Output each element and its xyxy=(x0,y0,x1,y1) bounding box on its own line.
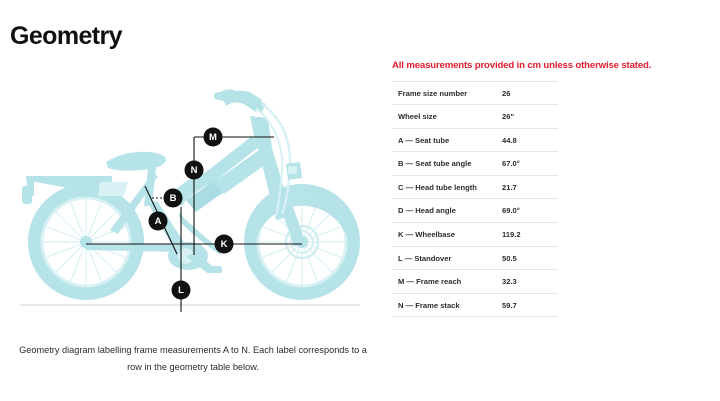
row-value: 26" xyxy=(502,105,558,129)
table-row: M — Frame reach32.3 xyxy=(392,270,558,294)
bike-silhouette xyxy=(22,90,360,301)
row-value: 32.3 xyxy=(502,270,558,294)
geometry-table: Frame size number26Wheel size26"A — Seat… xyxy=(392,81,558,318)
row-value: 26 xyxy=(502,81,558,105)
table-row: C — Head tube length21.7 xyxy=(392,175,558,199)
table-row: N — Frame stack59.7 xyxy=(392,293,558,317)
label-marker-b: B xyxy=(164,189,183,208)
bike-geometry-diagram: M N B A K L xyxy=(0,72,380,322)
row-label: C — Head tube length xyxy=(392,175,502,199)
row-value: 119.2 xyxy=(502,223,558,247)
caption-line-1: Geometry diagram labelling frame measure… xyxy=(19,345,296,355)
table-row: K — Wheelbase119.2 xyxy=(392,223,558,247)
row-label: L — Standover xyxy=(392,246,502,270)
table-row: D — Head angle69.0° xyxy=(392,199,558,223)
measurement-units-note: All measurements provided in cm unless o… xyxy=(392,60,712,72)
row-label: K — Wheelbase xyxy=(392,223,502,247)
label-marker-a: A xyxy=(149,212,168,231)
geometry-table-panel: All measurements provided in cm unless o… xyxy=(392,60,712,317)
row-value: 67.0° xyxy=(502,152,558,176)
row-value: 21.7 xyxy=(502,175,558,199)
svg-text:K: K xyxy=(221,239,228,250)
row-label: D — Head angle xyxy=(392,199,502,223)
row-label: Frame size number xyxy=(392,81,502,105)
diagram-caption: Geometry diagram labelling frame measure… xyxy=(18,342,368,376)
label-marker-n: N xyxy=(185,161,204,180)
table-row: Frame size number26 xyxy=(392,81,558,105)
row-label: N — Frame stack xyxy=(392,293,502,317)
table-row: Wheel size26" xyxy=(392,105,558,129)
table-row: L — Standover50.5 xyxy=(392,246,558,270)
svg-text:M: M xyxy=(209,132,217,143)
page-title: Geometry xyxy=(10,24,122,49)
table-row: A — Seat tube44.8 xyxy=(392,128,558,152)
row-label: M — Frame reach xyxy=(392,270,502,294)
geometry-page: Geometry xyxy=(0,0,720,401)
svg-text:L: L xyxy=(178,285,184,296)
row-label: B — Seat tube angle xyxy=(392,152,502,176)
row-value: 50.5 xyxy=(502,246,558,270)
label-marker-l: L xyxy=(172,281,191,300)
row-value: 44.8 xyxy=(502,128,558,152)
row-value: 69.0° xyxy=(502,199,558,223)
svg-text:A: A xyxy=(155,216,162,227)
row-value: 59.7 xyxy=(502,293,558,317)
row-label: Wheel size xyxy=(392,105,502,129)
svg-text:N: N xyxy=(191,165,198,176)
row-label: A — Seat tube xyxy=(392,128,502,152)
label-marker-k: K xyxy=(215,235,234,254)
svg-text:B: B xyxy=(170,193,177,204)
table-row: B — Seat tube angle67.0° xyxy=(392,152,558,176)
label-marker-m: M xyxy=(204,128,223,147)
